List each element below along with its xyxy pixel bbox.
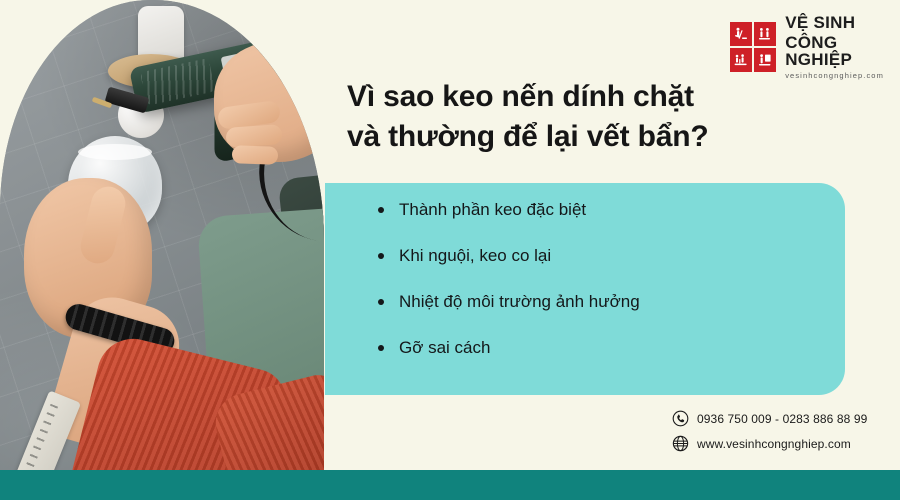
bullet-list-card: Thành phần keo đặc biệt Khi nguội, keo c… [325,183,845,395]
puzzle-piece-1 [730,22,752,46]
list-item: Gỡ sai cách [378,339,845,356]
brand-logo-text: VỆ SINH CÔNG NGHIỆP vesinhcongnghiep.com [785,14,900,80]
website-url: www.vesinhcongnghiep.com [697,437,851,451]
right-finger-3 [232,145,279,165]
photo-panel [0,0,324,470]
right-finger-2 [225,124,282,148]
bullet-list: Thành phần keo đặc biệt Khi nguội, keo c… [325,183,845,356]
phone-number: 0936 750 009 - 0283 886 88 99 [697,412,867,426]
glue-gun-ribs [140,58,216,106]
puzzle-grid-icon [730,22,776,72]
contact-website-row[interactable]: www.vesinhcongnghiep.com [672,435,867,452]
list-item: Thành phần keo đặc biệt [378,201,845,218]
photo-image [0,0,324,470]
headline-line-2: và thường để lại vết bẩn? [347,117,847,157]
list-item: Khi nguội, keo co lại [378,247,845,264]
puzzle-piece-4 [754,48,776,72]
brand-line-2: CÔNG NGHIỆP [785,34,900,68]
contact-block: 0936 750 009 - 0283 886 88 99 www.vesinh… [672,410,867,452]
contact-phone-row[interactable]: 0936 750 009 - 0283 886 88 99 [672,410,867,427]
page-title: Vì sao keo nến dính chặt và thường để lạ… [347,77,847,157]
puzzle-piece-2 [754,22,776,46]
headline-line-1: Vì sao keo nến dính chặt [347,77,847,117]
phone-circle-icon [672,410,689,427]
banner-root: VỆ SINH CÔNG NGHIỆP vesinhcongnghiep.com… [0,0,900,500]
brand-line-1: VỆ SINH [785,14,900,31]
brand-logo: VỆ SINH CÔNG NGHIỆP vesinhcongnghiep.com [730,14,900,80]
list-item: Nhiệt độ môi trường ảnh hưởng [378,293,845,310]
globe-icon [672,435,689,452]
bottom-accent-bar [0,470,900,500]
puzzle-piece-3 [730,48,752,72]
